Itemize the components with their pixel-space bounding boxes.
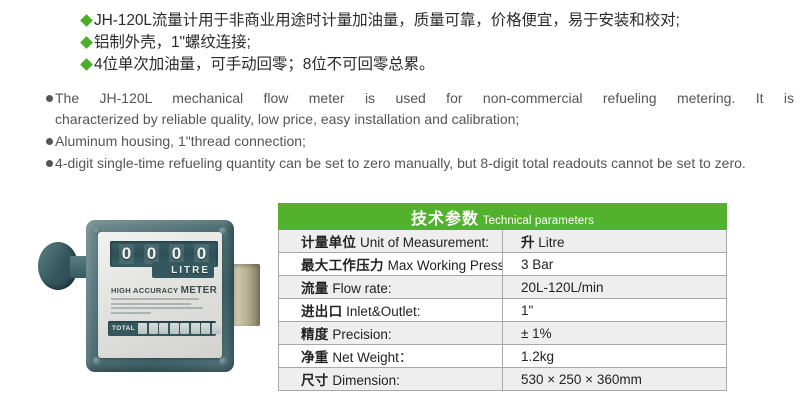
- row-label-en: Unit of Measurement:: [360, 235, 489, 250]
- english-bullet-item: 4-digit single-time refueling quantity c…: [46, 153, 794, 174]
- diamond-bullet-icon: [80, 14, 93, 27]
- english-bullet-text: 4-digit single-time refueling quantity c…: [55, 153, 794, 174]
- meter-faceplate: 0 0 0 0 LITRE HIGH ACCURACY METER TOTAL: [98, 232, 222, 358]
- table-row: 进出口 Inlet&Outlet: 1": [279, 299, 727, 322]
- total-digit: [159, 323, 168, 334]
- chinese-bullet-text: JH-120L流量计用于非商业用途时计量加油量，质量可靠，价格便宜，易于安装和校…: [94, 10, 680, 32]
- row-value-en: 530 × 250 × 360mm: [521, 372, 642, 387]
- row-label-en: Net Weight：: [332, 350, 412, 365]
- table-title-cn: 技术参数: [411, 211, 479, 228]
- row-label-cn: 流量: [301, 281, 329, 296]
- counter-digit: 0: [194, 244, 209, 264]
- technical-parameters-table: 技术参数 Technical parameters 计量单位 Unit of M…: [278, 203, 727, 391]
- meter-housing: 0 0 0 0 LITRE HIGH ACCURACY METER TOTAL: [86, 220, 234, 372]
- round-bullet-icon: [46, 95, 53, 102]
- total-digit: [201, 323, 210, 334]
- total-counter-display: TOTAL: [108, 321, 216, 336]
- row-label-en: Flow rate:: [332, 281, 391, 296]
- row-value-cn: 升: [521, 235, 535, 250]
- row-label-cell: 进出口 Inlet&Outlet:: [279, 299, 503, 322]
- total-digit: [191, 323, 200, 334]
- english-bullet-item: The JH-120L mechanical flow meter is use…: [46, 88, 794, 130]
- row-value-cell: 3 Bar: [503, 253, 727, 276]
- english-feature-list: The JH-120L mechanical flow meter is use…: [46, 88, 794, 175]
- table-row: 净重 Net Weight： 1.2kg: [279, 345, 727, 368]
- fine-print-line: [111, 312, 151, 314]
- row-label-cn: 尺寸: [301, 373, 329, 388]
- english-bullet-line: characterized by reliable quality, low p…: [55, 109, 794, 130]
- row-label-cn: 进出口: [301, 304, 342, 319]
- table-row: 计量单位 Unit of Measurement: 升 Litre: [279, 230, 727, 253]
- english-bullet-text: Aluminum housing, 1"thread connection;: [55, 131, 794, 152]
- table-header-cell: 技术参数 Technical parameters: [279, 204, 727, 230]
- row-value-cell: 530 × 250 × 360mm: [503, 368, 727, 391]
- row-value-en: 3 Bar: [521, 257, 553, 272]
- row-value-cell: 1": [503, 299, 727, 322]
- table-row: 尺寸 Dimension: 530 × 250 × 360mm: [279, 368, 727, 391]
- row-label-cell: 计量单位 Unit of Measurement:: [279, 230, 503, 253]
- english-bullet-line: be set to zero.: [657, 155, 746, 171]
- row-label-cell: 最大工作压力 Max Working Pressure:: [279, 253, 503, 276]
- counter-digit: 0: [169, 244, 184, 264]
- table-row: 流量 Flow rate: 20L-120L/min: [279, 276, 727, 299]
- table-row: 最大工作压力 Max Working Pressure: 3 Bar: [279, 253, 727, 276]
- table-title-en: Technical parameters: [483, 215, 594, 227]
- english-bullet-line: 4-digit single-time refueling quantity c…: [55, 155, 653, 171]
- total-digit: [212, 323, 221, 334]
- table-row: 精度 Precision: ± 1%: [279, 322, 727, 345]
- screw-icon: [219, 357, 227, 365]
- row-label-cn: 计量单位: [301, 235, 356, 250]
- row-value-cell: 升 Litre: [503, 230, 727, 253]
- row-value-en: Litre: [538, 235, 564, 250]
- row-label-cn: 精度: [301, 327, 329, 342]
- chinese-bullet-text: 铝制外壳，1"螺纹连接;: [94, 32, 251, 54]
- row-value-en: ± 1%: [521, 326, 552, 341]
- total-digit: [170, 323, 179, 334]
- unit-label: LITRE: [171, 265, 210, 276]
- row-label-cell: 流量 Flow rate:: [279, 276, 503, 299]
- brand-line: HIGH ACCURACY METER: [111, 285, 217, 296]
- row-label-en: Inlet&Outlet:: [346, 304, 420, 319]
- round-bullet-icon: [46, 160, 53, 167]
- row-label-cn: 净重: [301, 350, 329, 365]
- row-label-cell: 精度 Precision:: [279, 322, 503, 345]
- row-label-cn: 最大工作压力: [301, 258, 384, 273]
- english-bullet-item: Aluminum housing, 1"thread connection;: [46, 131, 794, 152]
- chinese-bullet-item: JH-120L流量计用于非商业用途时计量加油量，质量可靠，价格便宜，易于安装和校…: [82, 10, 794, 32]
- row-value-en: 1": [521, 303, 533, 318]
- diamond-bullet-icon: [80, 58, 93, 71]
- english-bullet-line: Aluminum housing, 1"thread connection;: [55, 133, 306, 149]
- diamond-bullet-icon: [80, 36, 93, 49]
- english-bullet-line: The JH-120L mechanical flow meter is use…: [55, 88, 794, 109]
- row-value-cell: 20L-120L/min: [503, 276, 727, 299]
- total-digit: [180, 323, 189, 334]
- round-bullet-icon: [46, 138, 53, 145]
- english-bullet-text: The JH-120L mechanical flow meter is use…: [55, 88, 794, 130]
- table-header-row: 技术参数 Technical parameters: [279, 204, 727, 230]
- row-label-en: Dimension:: [332, 373, 400, 388]
- total-digit: [149, 323, 158, 334]
- chinese-bullet-text: 4位单次加油量，可手动回零；8位不可回零总累。: [94, 54, 434, 76]
- counter-digit: 0: [144, 244, 159, 264]
- row-value-cell: 1.2kg: [503, 345, 727, 368]
- fine-print-line: [111, 307, 203, 309]
- total-label: TOTAL: [112, 325, 135, 332]
- product-photo: 0 0 0 0 LITRE HIGH ACCURACY METER TOTAL: [30, 212, 266, 390]
- row-label-cell: 净重 Net Weight：: [279, 345, 503, 368]
- fine-print-line: [111, 298, 199, 300]
- row-label-en: Precision:: [332, 327, 391, 342]
- counter-digit: 0: [119, 244, 134, 264]
- brand-line-prefix: HIGH ACCURACY: [111, 286, 181, 295]
- chinese-bullet-item: 铝制外壳，1"螺纹连接;: [82, 32, 794, 54]
- row-label-cell: 尺寸 Dimension:: [279, 368, 503, 391]
- row-value-cell: ± 1%: [503, 322, 727, 345]
- chinese-bullet-item: 4位单次加油量，可手动回零；8位不可回零总累。: [82, 54, 794, 76]
- total-digit: [138, 323, 147, 334]
- total-digit-group: [138, 323, 221, 334]
- row-value-en: 20L-120L/min: [521, 280, 604, 295]
- row-label-en: Max Working Pressure:: [388, 258, 503, 273]
- fine-print-block: [111, 298, 221, 316]
- screw-icon: [93, 357, 101, 365]
- row-value-en: 1.2kg: [521, 349, 554, 364]
- fine-print-line: [111, 303, 191, 305]
- brand-line-suffix: METER: [181, 285, 218, 296]
- chinese-feature-list: JH-120L流量计用于非商业用途时计量加油量，质量可靠，价格便宜，易于安装和校…: [82, 10, 794, 76]
